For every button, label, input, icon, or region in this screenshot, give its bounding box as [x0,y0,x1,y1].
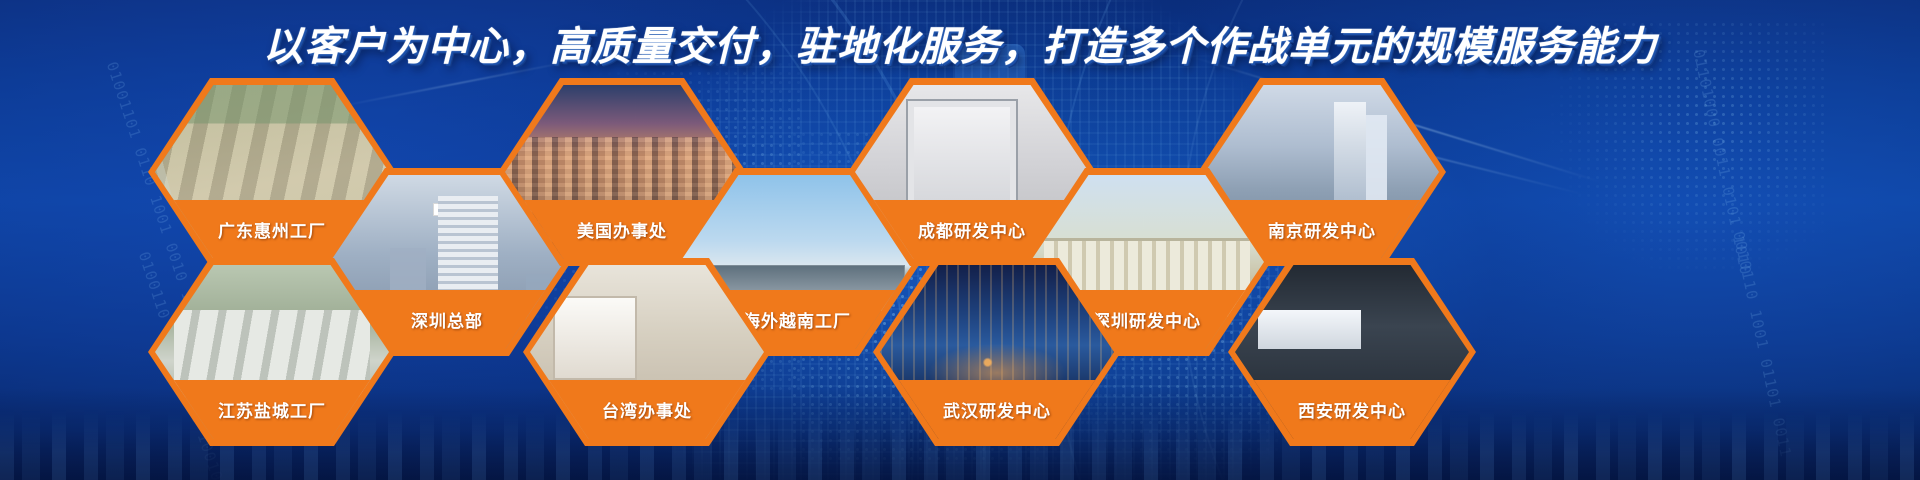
dot-pattern [1530,20,1830,270]
brand-logo: MTN [433,203,462,216]
brand-logo: MTN [916,109,949,123]
brand-logo: MTN [1268,317,1299,329]
hex-photo-frame: MTN 西安研发中心 [1235,265,1469,439]
brand-logo: MTN [769,276,800,289]
company-locations-banner: 01001101 0110 1001 0010 1101 0100110 010… [0,0,1920,480]
brand-logo: MTN [563,303,596,317]
hex-photo-frame: 武汉研发中心 [880,265,1114,439]
hex-photo-frame: MTN 台湾办事处 [530,265,764,439]
binary-decor-text: 01101000 0011 0101 1010 [1690,48,1753,277]
hex-photo-frame: 江苏盐城工厂 [155,265,389,439]
